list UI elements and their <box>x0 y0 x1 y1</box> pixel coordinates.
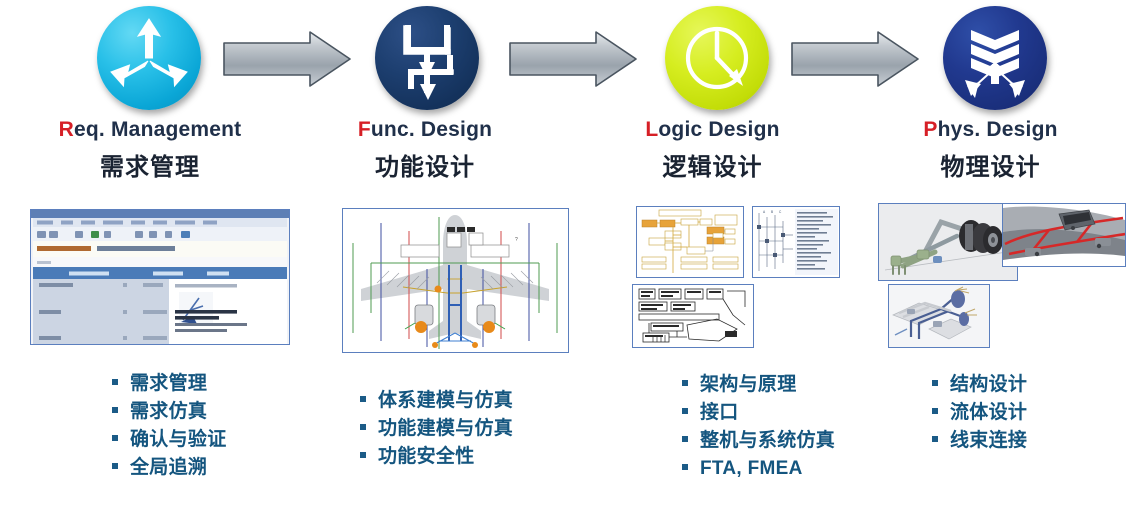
page-title-phys-en: Phys. Design <box>855 118 1126 142</box>
list-item[interactable]: 流体设计 <box>932 401 1027 424</box>
list-item[interactable]: 整机与系统仿真 <box>682 429 835 452</box>
bullet-list-logic: 架构与原理 接口 整机与系统仿真 FTA, FMEA <box>682 373 835 485</box>
page-title-req-en: Req. Management <box>0 118 300 142</box>
title-rest: eq. Management <box>74 118 241 141</box>
wire-harness-routing-cad-model <box>888 284 990 348</box>
list-item-label: 架构与原理 <box>700 373 797 396</box>
list-item-label: FTA, FMEA <box>700 457 803 480</box>
bullet-square-icon <box>682 464 688 470</box>
page-title-phys-cn: 物理设计 <box>855 147 1126 182</box>
bullet-square-icon <box>932 436 938 442</box>
list-item[interactable]: 需求管理 <box>112 372 227 395</box>
bullet-square-icon <box>682 408 688 414</box>
title-initial-letter: L <box>645 118 658 141</box>
page-title-logic-en: Logic Design <box>570 118 855 142</box>
landing-gear-cad-model <box>878 203 1018 281</box>
list-item-label: 全局追溯 <box>130 456 207 479</box>
bullet-square-icon <box>932 380 938 386</box>
list-item[interactable]: 功能安全性 <box>360 445 513 468</box>
three-axis-arrows-icon <box>97 6 201 110</box>
bullet-square-icon <box>360 424 366 430</box>
stage-func-design: Func. Design 功能设计 <box>280 0 570 511</box>
bullet-square-icon <box>682 380 688 386</box>
list-item[interactable]: 架构与原理 <box>682 373 835 396</box>
page-title-func-en: Func. Design <box>280 118 570 142</box>
title-initial-letter: R <box>59 118 74 141</box>
fuselage-structure-cad-model <box>1002 203 1126 267</box>
list-item[interactable]: 接口 <box>682 401 835 424</box>
title-initial-letter: F <box>358 118 371 141</box>
cascading-flow-arrows-icon <box>375 6 479 110</box>
list-item-label: 确认与验证 <box>130 428 227 451</box>
bullet-list-phys: 结构设计 流体设计 线束连接 <box>932 373 1027 457</box>
list-item[interactable]: 体系建模与仿真 <box>360 389 513 412</box>
stage-req-management: Req. Management 需求管理 <box>0 0 300 511</box>
list-item[interactable]: 功能建模与仿真 <box>360 417 513 440</box>
list-item[interactable]: 结构设计 <box>932 373 1027 396</box>
bullet-list-func: 体系建模与仿真 功能建模与仿真 功能安全性 <box>360 389 513 473</box>
bullet-square-icon <box>112 463 118 469</box>
list-item-label: 结构设计 <box>950 373 1027 396</box>
title-rest: hys. Design <box>938 118 1058 141</box>
bullet-square-icon <box>112 435 118 441</box>
bullet-square-icon <box>932 408 938 414</box>
hydraulic-circuit-schematic-diagram <box>632 284 754 348</box>
list-item-label: 整机与系统仿真 <box>700 429 835 452</box>
clock-icon <box>665 6 769 110</box>
stage-phys-design: Phys. Design 物理设计 <box>855 0 1126 511</box>
list-item-label: 需求管理 <box>130 372 207 395</box>
stage-logic-design: Logic Design 逻辑设计 <box>570 0 855 511</box>
converging-chevron-arrows-icon <box>943 6 1047 110</box>
bullet-square-icon <box>360 452 366 458</box>
svg-text:B: B <box>771 210 773 214</box>
aircraft-functional-architecture-diagram: ? <box>342 208 569 353</box>
title-rest: unc. Design <box>371 118 492 141</box>
list-item-label: 流体设计 <box>950 401 1027 424</box>
list-item-label: 体系建模与仿真 <box>378 389 513 412</box>
list-item[interactable]: FTA, FMEA <box>682 457 835 480</box>
bullet-square-icon <box>112 407 118 413</box>
list-item-label: 需求仿真 <box>130 400 207 423</box>
wiring-logic-schematic-diagram: ABC <box>752 206 840 278</box>
bullet-list-req: 需求管理 需求仿真 确认与验证 全局追溯 <box>112 372 227 484</box>
svg-text:?: ? <box>515 237 518 243</box>
page-title-logic-cn: 逻辑设计 <box>570 147 855 182</box>
system-block-schematic-diagram <box>636 206 744 278</box>
list-item-label: 线束连接 <box>950 429 1027 452</box>
requirements-management-tool-screenshot <box>30 209 290 345</box>
list-item-label: 功能安全性 <box>378 445 475 468</box>
title-initial-letter: P <box>923 118 937 141</box>
title-rest: ogic Design <box>658 118 779 141</box>
list-item[interactable]: 线束连接 <box>932 429 1027 452</box>
bullet-square-icon <box>682 436 688 442</box>
list-item-label: 接口 <box>700 401 739 424</box>
list-item[interactable]: 全局追溯 <box>112 456 227 479</box>
bullet-square-icon <box>112 379 118 385</box>
list-item-label: 功能建模与仿真 <box>378 417 513 440</box>
list-item[interactable]: 需求仿真 <box>112 400 227 423</box>
page-title-req-cn: 需求管理 <box>0 147 300 182</box>
page-title-func-cn: 功能设计 <box>280 147 570 182</box>
bullet-square-icon <box>360 396 366 402</box>
list-item[interactable]: 确认与验证 <box>112 428 227 451</box>
